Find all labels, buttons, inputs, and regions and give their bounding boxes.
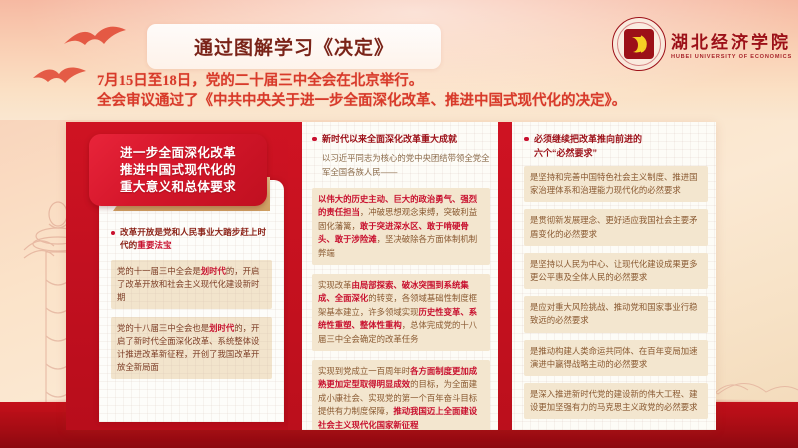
column-divider-1 bbox=[288, 122, 302, 430]
middle-note-2: 实现改革由局部探索、破冰突围到系统集成、全面深化的转变，各领域基础性制度框架基本… bbox=[312, 274, 490, 351]
page-title: 通过图解学习《决定》 bbox=[194, 33, 394, 60]
right-item-1: 是坚持和完善中国特色社会主义制度、推进国家治理体系和治理能力现代化的必然要求 bbox=[524, 166, 708, 202]
right-item-2: 是贯彻新发展理念、更好适应我国社会主要矛盾变化的必然要求 bbox=[524, 209, 708, 245]
left-headline-line3: 重大意义和总体要求 bbox=[120, 179, 236, 196]
left-note-2: 党的十八届三中全会也是划时代的，开启了新时代全面深化改革、系统整体设计推进改革新… bbox=[111, 317, 272, 379]
university-seal-icon bbox=[612, 17, 666, 71]
right-item-5: 是推动构建人类命运共同体、在百年变局加速演进中赢得战略主动的必然要求 bbox=[524, 340, 708, 376]
seal-emblem-icon bbox=[624, 29, 654, 59]
title-pill: 通过图解学习《决定》 bbox=[147, 24, 441, 69]
middle-note-3-t0: 实现到党成立一百周年时 bbox=[318, 366, 410, 376]
right-item-3: 是坚持以人民为中心、让现代化建设成果更多更公平惠及全体人民的必然要求 bbox=[524, 253, 708, 289]
university-logo: 湖北经济学院 HUBEI UNIVERSITY OF ECONOMICS bbox=[612, 17, 792, 71]
middle-note-2-t0: 实现改革 bbox=[318, 280, 352, 290]
header-subtitle: 7月15日至18日，党的二十届三中全会在北京举行。 全会审议通过了《中共中央关于… bbox=[97, 71, 757, 111]
left-content-card: 进一步全面深化改革的 重要性和必要性 改革开放是党和人民事业大踏步赶上时代的重要… bbox=[99, 180, 284, 422]
left-note-2-a: 党的十八届三中全会也是 bbox=[117, 323, 209, 333]
university-name-cn: 湖北经济学院 bbox=[671, 28, 792, 53]
university-name-en: HUBEI UNIVERSITY OF ECONOMICS bbox=[671, 54, 792, 60]
infographic-poster: 通过图解学习《决定》 7月15日至18日，党的二十届三中全会在北京举行。 全会审… bbox=[0, 0, 798, 448]
column-divider-2 bbox=[498, 122, 512, 430]
right-heading-line1: 必须继续把改革推向前进的 bbox=[534, 132, 708, 146]
middle-lead-text: 以习近平同志为核心的党中央团结带领全党全军全国各族人民—— bbox=[322, 152, 490, 179]
header-subtitle-line2: 全会审议通过了《中共中央关于进一步全面深化改革、推进中国式现代化的决定》。 bbox=[97, 91, 757, 111]
left-note-1-highlight: 划时代 bbox=[201, 266, 226, 276]
left-note-2-highlight: 划时代 bbox=[209, 323, 234, 333]
left-note-1: 党的十一届三中全会是划时代的，开启了改革开放和社会主义现代化建设新时期 bbox=[111, 260, 272, 309]
header-subtitle-line1: 7月15日至18日，党的二十届三中全会在北京举行。 bbox=[97, 71, 757, 91]
left-headline-line1: 进一步全面深化改革 bbox=[120, 145, 236, 162]
poster-header: 通过图解学习《决定》 7月15日至18日，党的二十届三中全会在北京举行。 全会审… bbox=[0, 0, 798, 112]
left-bullet-text-2: 的 bbox=[129, 240, 138, 250]
content-panel: 进一步全面深化改革 推进中国式现代化的 重大意义和总体要求 进一步全面深化改革的… bbox=[66, 122, 716, 430]
right-heading-line2: 六个“必然要求” bbox=[534, 146, 708, 160]
left-headline-line2: 推进中国式现代化的 bbox=[120, 162, 236, 179]
right-heading: 必须继续把改革推向前进的 六个“必然要求” bbox=[524, 132, 708, 160]
right-item-6: 是深入推进新时代党的建设新的伟大工程、建设更加坚强有力的马克思主义政党的必然要求 bbox=[524, 383, 708, 419]
left-headline-box: 进一步全面深化改革 推进中国式现代化的 重大意义和总体要求 bbox=[89, 134, 267, 206]
right-item-4: 是应对重大风险挑战、推动党和国家事业行稳致远的必然要求 bbox=[524, 296, 708, 332]
left-note-1-a: 党的十一届三中全会是 bbox=[117, 266, 201, 276]
column-middle: 新时代以来全面深化改革重大成就 以习近平同志为核心的党中央团结带领全党全军全国各… bbox=[302, 122, 498, 430]
middle-heading: 新时代以来全面深化改革重大成就 bbox=[312, 132, 490, 146]
middle-note-3: 实现到党成立一百周年时各方面制度更加成熟更加定型取得明显成效的目标，为全面建成小… bbox=[312, 360, 490, 430]
column-left: 进一步全面深化改革 推进中国式现代化的 重大意义和总体要求 进一步全面深化改革的… bbox=[66, 122, 288, 430]
column-right: 必须继续把改革推向前进的 六个“必然要求” 是坚持和完善中国特色社会主义制度、推… bbox=[512, 122, 716, 430]
left-bullet-item: 改革开放是党和人民事业大踏步赶上时代的重要法宝 bbox=[111, 226, 272, 252]
middle-note-1: 以伟大的历史主动、巨大的政治勇气、强烈的责任担当，冲破思想观念束缚，突破利益固化… bbox=[312, 188, 490, 265]
university-name-block: 湖北经济学院 HUBEI UNIVERSITY OF ECONOMICS bbox=[671, 28, 792, 60]
left-bullet-highlight: 重要法宝 bbox=[137, 240, 171, 250]
